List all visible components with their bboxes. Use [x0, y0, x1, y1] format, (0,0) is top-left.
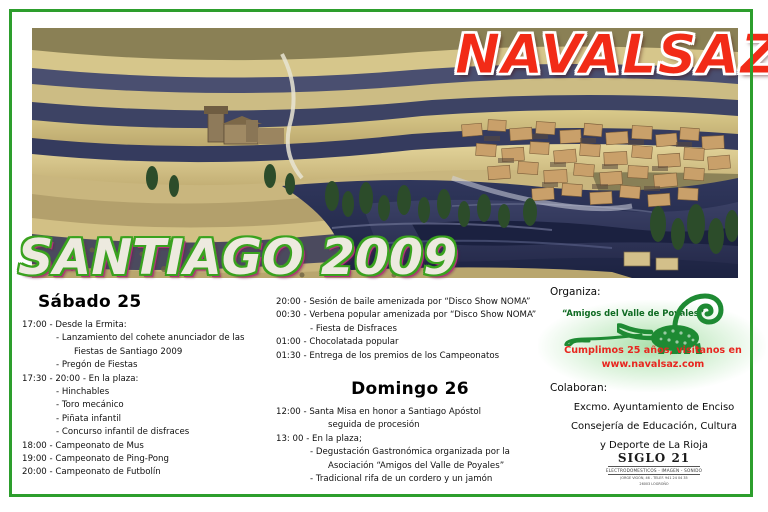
list-item: - Concurso infantil de disfraces: [22, 426, 272, 439]
saturday-schedule: Sábado 25 17:00 - Desde la Ermita: - Lan…: [22, 292, 272, 480]
sponsor-logo: SIGLO 21 ELECTRODOMESTICOS - IMAGEN - SO…: [604, 452, 704, 487]
list-item: 01:00 - Chocolatada popular: [276, 336, 544, 349]
anniversary-note: Cumplimos 25 años, visítanos en www.nava…: [548, 344, 758, 372]
list-item: Consejería de Educación, Cultura: [548, 417, 760, 436]
divider: [608, 466, 700, 467]
list-item: 00:30 - Verbena popular amenizada por “D…: [276, 309, 544, 322]
saturday-heading: Sábado 25: [22, 292, 272, 312]
saturday-event-list: 17:00 - Desde la Ermita: - Lanzamiento d…: [22, 319, 272, 480]
sponsor-name: SIGLO 21: [604, 452, 704, 465]
list-item: seguida de procesión: [276, 419, 544, 432]
sunday-schedule: 20:00 - Sesión de baile amenizada por “D…: [276, 296, 544, 486]
list-item: 12:00 - Santa Misa en honor a Santiago A…: [276, 406, 544, 419]
poster-root: NAVALSAZ SANTIAGO 2009 Sábado 25 17:00 -…: [0, 0, 768, 512]
sunday-heading: Domingo 26: [276, 379, 544, 399]
list-item: - Degustación Gastronómica organizada po…: [276, 446, 544, 459]
list-item: Asociación “Amigos del Valle de Poyales”: [276, 460, 544, 473]
list-item: - Tradicional rifa de un cordero y un ja…: [276, 473, 544, 486]
list-item: 17:30 - 20:00 - En la plaza:: [22, 373, 272, 386]
list-item: - Toro mecánico: [22, 399, 272, 412]
website-link[interactable]: www.navalsaz.com: [548, 358, 758, 372]
page-title: NAVALSAZ: [455, 22, 745, 92]
list-item: 20:00 - Campeonato de Futbolín: [22, 466, 272, 479]
list-item: Excmo. Ayuntamiento de Enciso: [548, 398, 760, 417]
sponsor-address-line-1: JORGE VIGÓN, 46 - TELEF. 941 24 04 35: [604, 476, 704, 481]
list-item: 01:30 - Entrega de los premios de los Ca…: [276, 350, 544, 363]
subtitle: SANTIAGO 2009: [18, 228, 368, 290]
list-item: 17:00 - Desde la Ermita:: [22, 319, 272, 332]
saturday-night-event-list: 20:00 - Sesión de baile amenizada por “D…: [276, 296, 544, 363]
sponsor-subtitle: ELECTRODOMESTICOS - IMAGEN - SONIDO: [604, 468, 704, 474]
list-item: - Pregón de Fiestas: [22, 359, 272, 372]
list-item: - Piñata infantil: [22, 413, 272, 426]
list-item: Fiestas de Santiago 2009: [22, 346, 272, 359]
anniversary-line-1: Cumplimos 25 años, visítanos en: [548, 344, 758, 358]
collaborators-list: Excmo. Ayuntamiento de Enciso Consejería…: [548, 398, 760, 455]
list-item: 20:00 - Sesión de baile amenizada por “D…: [276, 296, 544, 309]
list-item: 18:00 - Campeonato de Mus: [22, 440, 272, 453]
sponsor-address-line-2: 26003 LOGROÑO: [604, 482, 704, 487]
list-item: - Hinchables: [22, 386, 272, 399]
sunday-event-list: 12:00 - Santa Misa en honor a Santiago A…: [276, 406, 544, 486]
list-item: 13: 00 - En la plaza;: [276, 433, 544, 446]
list-item: 19:00 - Campeonato de Ping-Pong: [22, 453, 272, 466]
collaborators-label: Colaboran:: [550, 382, 607, 394]
spacer: [276, 363, 544, 379]
list-item: - Lanzamiento del cohete anunciador de l…: [22, 332, 272, 345]
list-item: - Fiesta de Disfraces: [276, 323, 544, 336]
